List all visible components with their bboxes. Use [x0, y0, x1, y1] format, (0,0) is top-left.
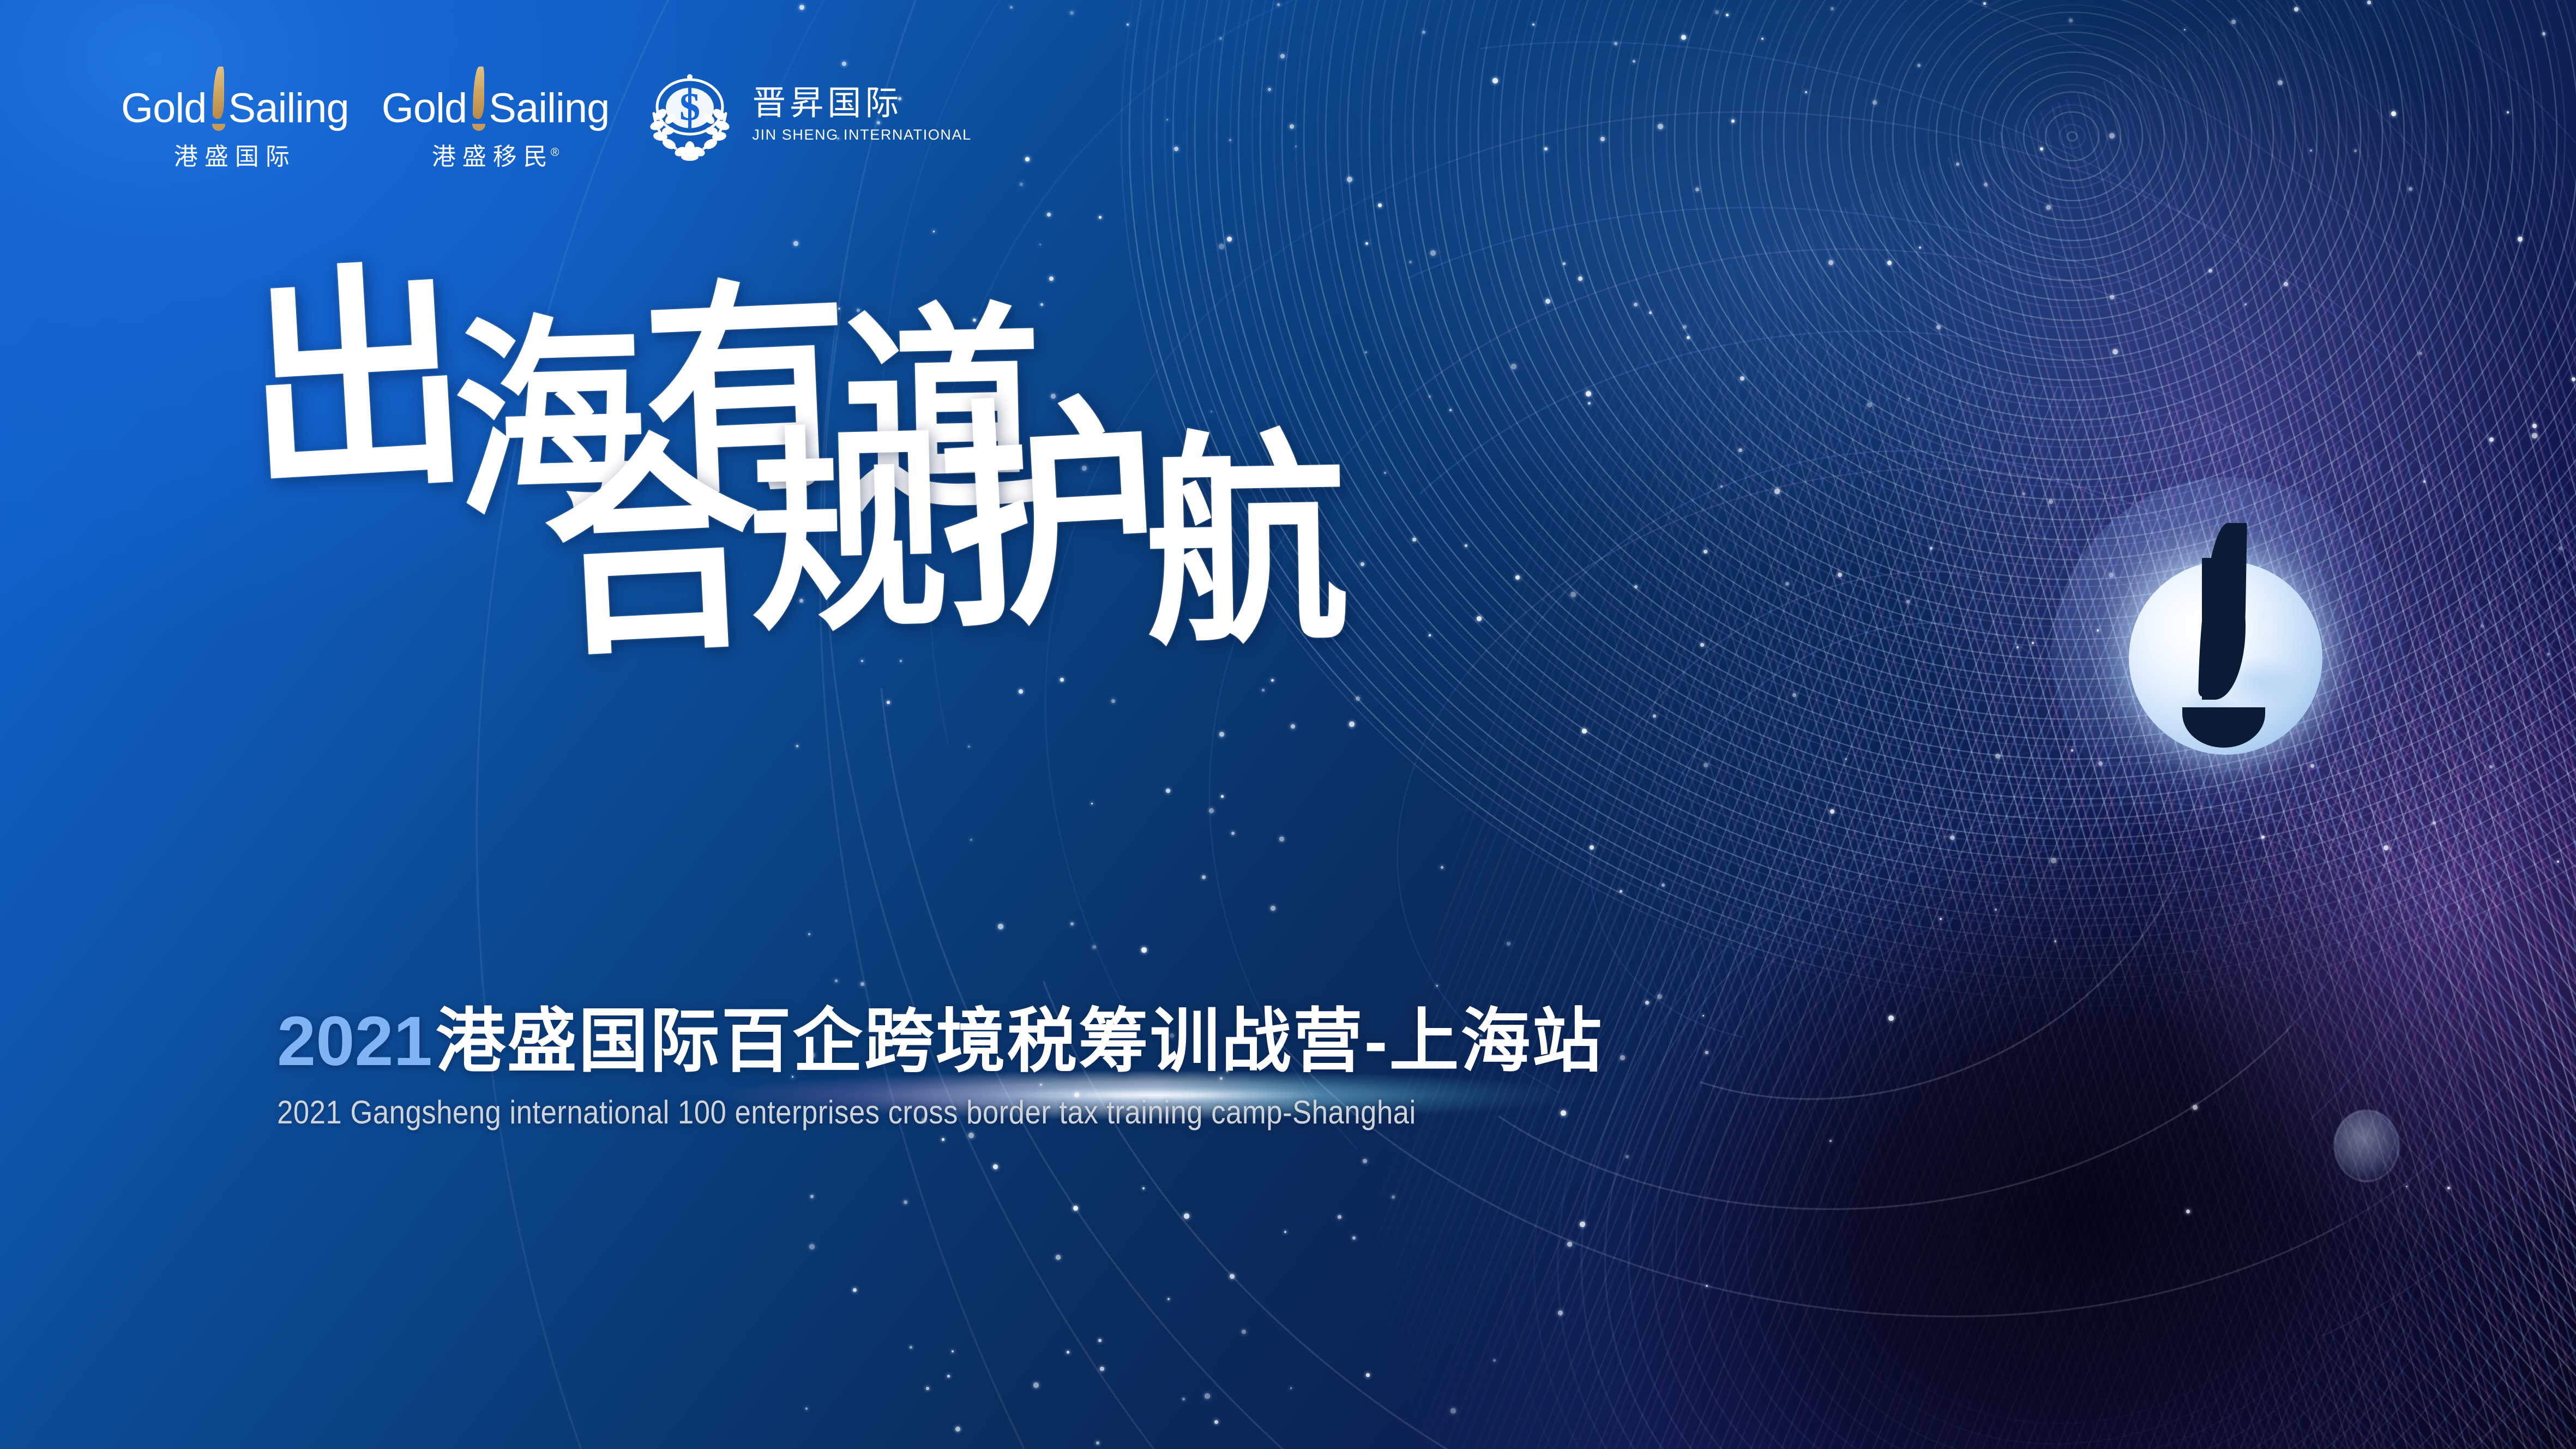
streak-fan-tertiary [1315, 284, 2576, 1449]
logo-chinese-text: 港盛移民 [432, 143, 554, 170]
headline-char: 海 [452, 321, 647, 518]
subtitle-block: 2021港盛国际百企跨境税筹训战营-上海站 2021 Gangsheng int… [277, 1002, 1603, 1131]
headline-char: 合 [540, 440, 765, 658]
headline-char: 航 [1143, 440, 1350, 645]
logo-bar: Gold Sailing 港盛国际 Gold Sailing 港盛移民® [121, 70, 972, 172]
headline-calligraphy: 出 海 有 道 合 规 护 航 [0, 305, 1745, 626]
headline-char: 道 [840, 311, 1045, 514]
logo-gold-sailing-immigration[interactable]: Gold Sailing 港盛移民® [382, 70, 610, 172]
event-banner: Gold Sailing 港盛国际 Gold Sailing 港盛移民® [0, 0, 2576, 1449]
sailboat-moon-graphic [2100, 526, 2357, 783]
bokeh-orb [2334, 1110, 2399, 1182]
headline-line-2: 合 规 护 航 [0, 443, 1745, 626]
gold-sail-icon [468, 76, 486, 129]
subtitle-english: 2021 Gangsheng international 100 enterpr… [277, 1093, 1445, 1131]
headline-char: 有 [641, 285, 854, 495]
subtitle-chinese: 2021港盛国际百企跨境税筹训战营-上海站 [277, 1002, 1603, 1080]
upper-arc-band [1118, 0, 2576, 1009]
gold-sail-icon [208, 76, 226, 129]
headline-char: 规 [747, 431, 950, 633]
subtitle-chinese-text: 港盛国际百企跨境税筹训战营-上海站 [436, 1002, 1604, 1080]
logo-word-sailing: Sailing [228, 88, 349, 129]
registered-mark: ® [551, 146, 559, 159]
logo-word-gold: Gold [121, 88, 207, 129]
headline-char: 护 [934, 403, 1164, 630]
logo-word-gold: Gold [382, 88, 467, 129]
gold-sailing-wordmark: Gold Sailing [382, 70, 610, 129]
headline-char: 出 [240, 269, 473, 494]
jin-sheng-english: JIN SHENG INTERNATIONAL [752, 127, 971, 143]
swirl-arc [1071, 188, 2576, 1426]
gold-sailing-wordmark: Gold Sailing [121, 70, 349, 129]
logo-jin-sheng-international[interactable]: S [642, 67, 971, 163]
logo-chinese-name: 港盛移民® [382, 137, 610, 172]
logo-word-sailing: Sailing [489, 88, 609, 129]
swirl-arc [1166, 199, 2563, 1415]
jin-sheng-chinese: 晋昇国际 [752, 86, 971, 122]
headline-line-1: 出 海 有 道 [0, 305, 1745, 486]
jin-sheng-crest-icon: S [642, 67, 738, 163]
subtitle-year: 2021 [277, 1002, 432, 1080]
jin-sheng-wordmark: 晋昇国际 JIN SHENG INTERNATIONAL [752, 86, 971, 144]
logo-chinese-name: 港盛国际 [121, 137, 349, 172]
logo-gold-sailing-international[interactable]: Gold Sailing 港盛国际 [121, 70, 349, 172]
